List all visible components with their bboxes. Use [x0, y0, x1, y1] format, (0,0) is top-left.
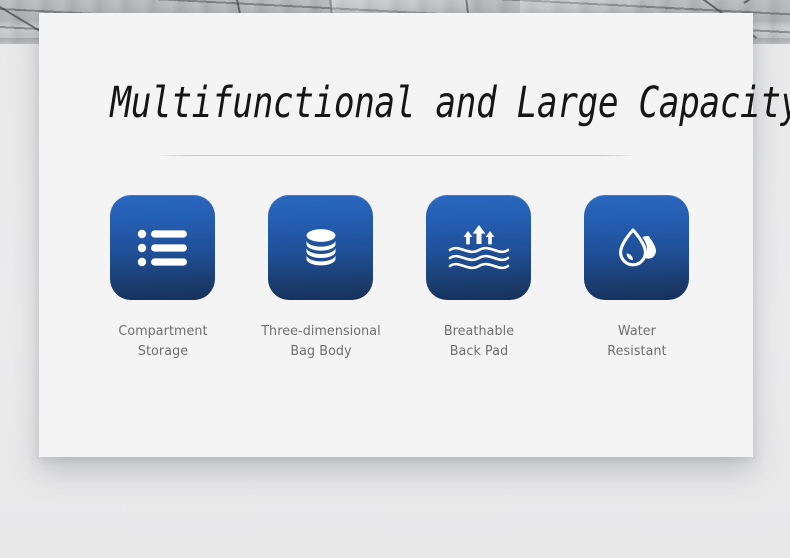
water-droplet-icon [612, 223, 662, 273]
feature-caption-line-2: Resistant [566, 341, 707, 361]
feature-item-water-resistant: Water Resistant [584, 195, 689, 361]
feature-item-three-dimensional-bag-body: Three-dimensional Bag Body [268, 195, 373, 361]
airflow-waves-icon [447, 223, 511, 273]
feature-caption: Three-dimensional Bag Body [250, 321, 391, 361]
feature-item-compartment-storage: Compartment Storage [110, 195, 215, 361]
feature-caption: Water Resistant [566, 321, 707, 361]
stacked-discs-icon [298, 225, 344, 271]
feature-item-breathable-back-pad: Breathable Back Pad [426, 195, 531, 361]
feature-icon-tile [584, 195, 689, 300]
feature-caption-line-2: Back Pad [408, 341, 549, 361]
feature-caption: Breathable Back Pad [408, 321, 549, 361]
feature-icon-tile [110, 195, 215, 300]
feature-caption-line-2: Bag Body [250, 341, 391, 361]
title-divider [160, 155, 632, 156]
feature-caption-line-1: Compartment [118, 323, 207, 339]
feature-icon-tile [426, 195, 531, 300]
content-card: Multifunctional and Large Capacity [39, 13, 753, 457]
page-title: Multifunctional and Large Capacity [110, 79, 681, 127]
feature-list: Compartment Storage [39, 195, 753, 361]
feature-icon-tile [268, 195, 373, 300]
feature-caption: Compartment Storage [92, 321, 233, 361]
bulleted-list-icon [137, 228, 189, 268]
feature-caption-line-2: Storage [92, 341, 233, 361]
feature-caption-line-1: Three-dimensional [261, 323, 381, 339]
feature-caption-line-1: Water [617, 323, 655, 339]
feature-caption-line-1: Breathable [443, 323, 513, 339]
product-feature-banner: Multifunctional and Large Capacity [0, 0, 790, 558]
